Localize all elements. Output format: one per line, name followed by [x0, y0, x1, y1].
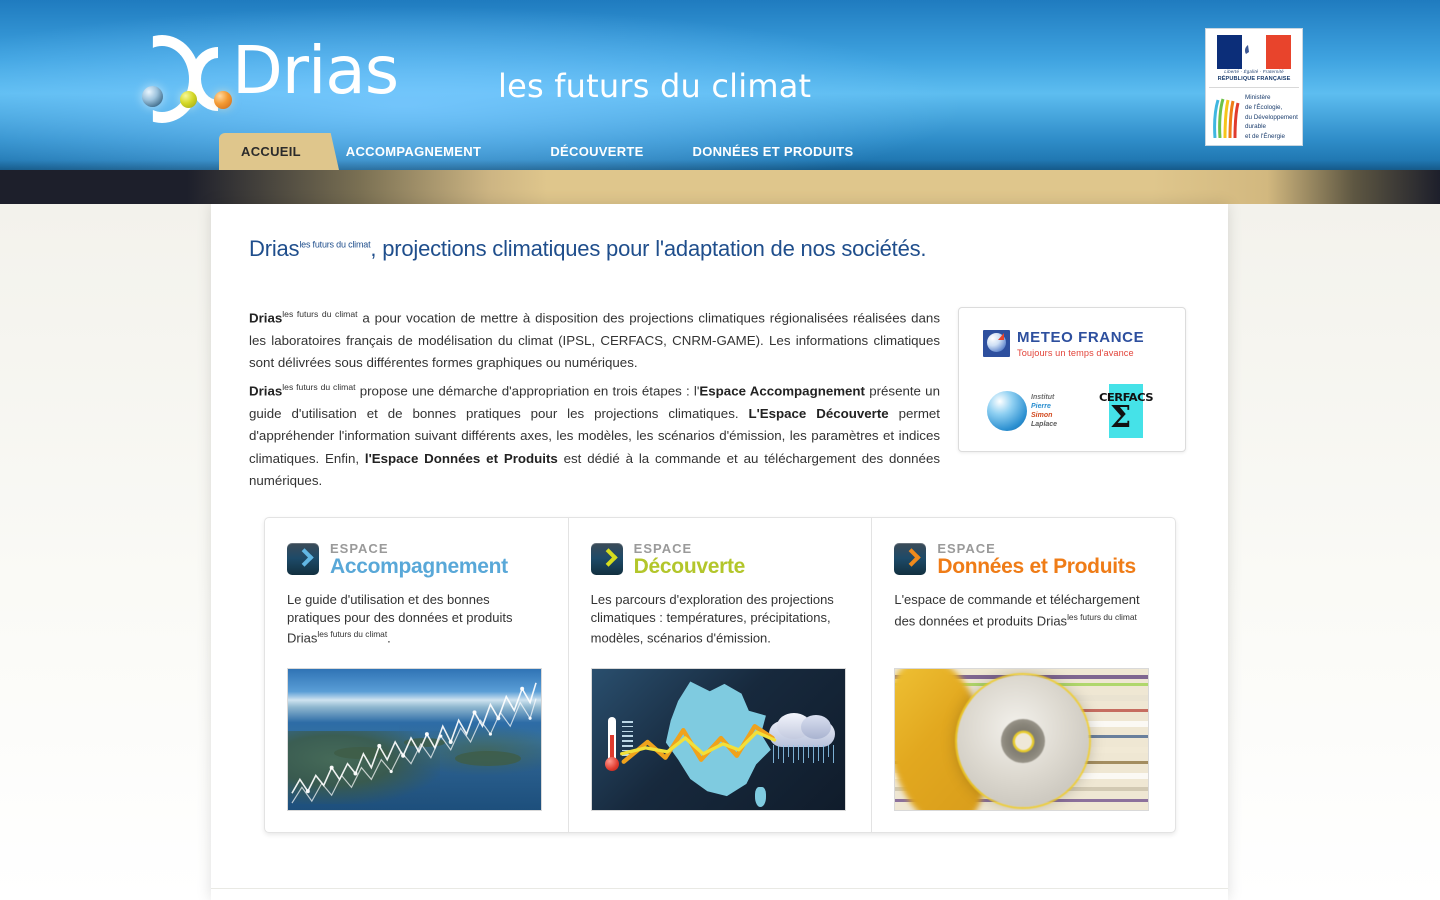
card-header: ESPACE Accompagnement — [287, 541, 546, 577]
card-header: ESPACE Découverte — [591, 541, 850, 577]
ipsl-line-3: Simon — [1031, 411, 1057, 420]
card-desc-text: Les parcours d'exploration des projectio… — [591, 592, 834, 645]
drias-logo-icon[interactable] — [118, 33, 238, 125]
p2-segment-1: Espace Accompagnement — [699, 383, 865, 398]
devise-text: Liberté · Égalité · Fraternité — [1209, 69, 1299, 74]
card-desc-superscript: les futurs du climat — [1067, 612, 1137, 622]
ipsl-logo: Institut Pierre Simon Laplace — [987, 388, 1075, 434]
ministry-logo[interactable]: Liberté · Égalité · Fraternité RÉPUBLIQU… — [1205, 28, 1303, 146]
card-espace-label: ESPACE — [330, 542, 508, 555]
p1-superscript: les futurs du climat — [282, 309, 357, 319]
p2-segment-3: L'Espace Découverte — [748, 406, 888, 421]
chevron-right-icon[interactable] — [894, 543, 926, 575]
page-background-right — [1228, 204, 1440, 900]
chevron-right-icon[interactable] — [591, 543, 623, 575]
page-title-superscript: les futurs du climat — [299, 240, 370, 250]
nav-item-accompagnement[interactable]: ACCOMPAGNEMENT — [330, 133, 497, 170]
partner-logos-box: METEO FRANCE Toujours un temps d'avance … — [958, 307, 1186, 452]
brand-tagline: les futurs du climat — [498, 67, 811, 105]
p2-brand: Drias — [249, 383, 282, 398]
ipsl-line-1: Institut — [1031, 393, 1057, 402]
chevron-right-icon[interactable] — [287, 543, 319, 575]
page-background-left — [0, 204, 211, 900]
p1-brand: Drias — [249, 310, 282, 325]
page-title-brand: Drias — [249, 236, 299, 261]
card-donnees-et-produits[interactable]: ESPACE Données et Produits L'espace de c… — [871, 518, 1175, 832]
card-title: Données et Produits — [937, 556, 1136, 577]
page-title-rest: , projections climatiques pour l'adaptat… — [370, 236, 926, 261]
marianne-profile-icon — [1239, 36, 1269, 68]
meteo-france-name: METEO FRANCE — [1017, 330, 1144, 345]
p2-superscript: les futurs du climat — [282, 382, 355, 392]
ipsl-line-2: Pierre — [1031, 402, 1057, 411]
card-desc-superscript: les futurs du climat — [317, 629, 387, 639]
ministry-bars-icon — [1213, 94, 1243, 138]
card-description: L'espace de commande et téléchargement d… — [894, 591, 1153, 629]
ipsl-line-4: Laplace — [1031, 420, 1057, 429]
republique-text: RÉPUBLIQUE FRANÇAISE — [1209, 76, 1299, 82]
republique-francaise-block: Liberté · Égalité · Fraternité RÉPUBLIQU… — [1209, 32, 1299, 88]
nav-item-accueil[interactable]: ACCUEIL — [219, 133, 323, 170]
meteo-france-slogan: Toujours un temps d'avance — [1017, 348, 1144, 358]
page-root: Drias les futurs du climat Liberté · Éga… — [0, 0, 1440, 900]
card-image-france-climate — [591, 668, 846, 811]
p2-segment-0: propose une démarche d'appropriation en … — [356, 383, 700, 398]
p2-segment-5: l'Espace Données et Produits — [365, 451, 558, 466]
card-desc-suffix: . — [387, 630, 391, 645]
card-title: Découverte — [634, 556, 745, 577]
page-title: Driasles futurs du climat, projections c… — [249, 236, 1009, 262]
nav-item-donnees-et-produits[interactable]: DONNÉES ET PRODUITS — [683, 133, 863, 170]
main-navigation: ACCUEIL ACCOMPAGNEMENT DÉCOUVERTE DONNÉE… — [0, 133, 1440, 170]
card-header: ESPACE Données et Produits — [894, 541, 1153, 577]
p1-text: a pour vocation de mettre à disposition … — [249, 310, 940, 370]
card-description: Les parcours d'exploration des projectio… — [591, 591, 850, 647]
card-image-aerial-coast — [287, 668, 542, 811]
cerfacs-sigma-icon: 𝚺 — [1110, 404, 1143, 432]
p2-segments: propose une démarche d'appropriation en … — [249, 383, 940, 488]
cerfacs-logo: CERFACS 𝚺 — [1097, 384, 1155, 438]
brand-name[interactable]: Drias — [232, 38, 398, 104]
intro-paragraph-2: Driasles futurs du climat propose une dé… — [249, 376, 940, 493]
meteo-france-icon — [983, 330, 1010, 357]
card-espace-label: ESPACE — [634, 542, 745, 555]
logo-sphere-orange — [214, 91, 232, 109]
logo-arc-left — [124, 35, 200, 123]
card-decouverte[interactable]: ESPACE Découverte Les parcours d'explora… — [568, 518, 872, 832]
intro-paragraph-1: Driasles futurs du climat a pour vocatio… — [249, 303, 940, 375]
card-espace-label: ESPACE — [937, 542, 1136, 555]
card-accompagnement[interactable]: ESPACE Accompagnement Le guide d'utilisa… — [265, 518, 568, 832]
gold-band — [0, 170, 1440, 204]
ipsl-globe-icon — [987, 391, 1027, 431]
logo-sphere-yellow — [180, 91, 197, 108]
card-image-cd-disc — [894, 668, 1149, 811]
espace-cards: ESPACE Accompagnement Le guide d'utilisa… — [264, 517, 1176, 833]
card-desc-text: L'espace de commande et téléchargement d… — [894, 592, 1139, 628]
logo-sphere-blue — [142, 86, 163, 107]
card-description: Le guide d'utilisation et des bonnes pra… — [287, 591, 546, 647]
card-title: Accompagnement — [330, 556, 508, 577]
cd-disc-icon — [957, 675, 1089, 807]
nav-item-decouverte[interactable]: DÉCOUVERTE — [529, 133, 665, 170]
panel-divider — [211, 888, 1228, 889]
meteo-france-logo: METEO FRANCE Toujours un temps d'avance — [983, 330, 1144, 358]
